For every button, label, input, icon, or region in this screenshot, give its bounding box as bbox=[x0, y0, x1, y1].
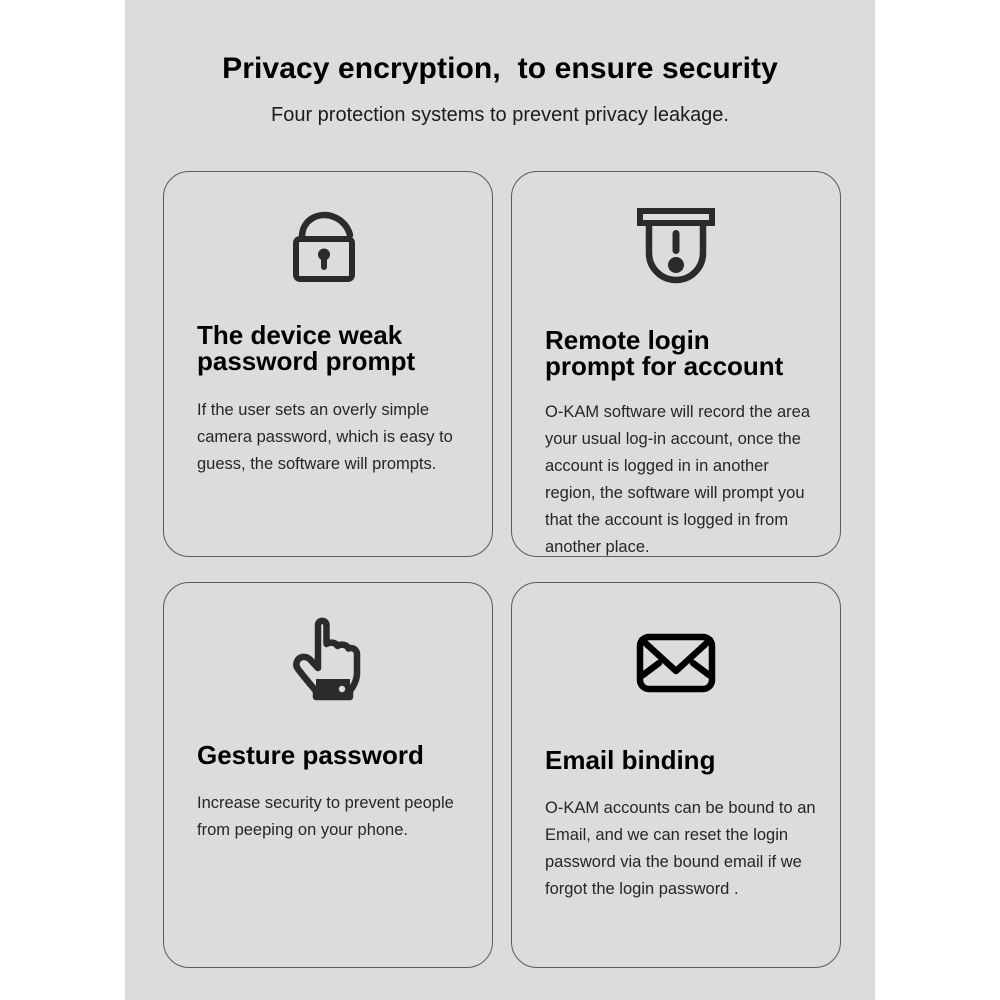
page-subtitle: Four protection systems to prevent priva… bbox=[125, 89, 875, 128]
card-body: If the user sets an overly simple camera… bbox=[164, 397, 492, 478]
card-title: Email binding bbox=[512, 747, 840, 773]
feature-card-grid: The device weak password prompt If the u… bbox=[163, 171, 838, 968]
envelope-icon bbox=[628, 583, 724, 711]
card-body: O-KAM accounts can be bound to an Email,… bbox=[512, 795, 840, 903]
feature-card-email-binding[interactable]: Email binding O-KAM accounts can be boun… bbox=[511, 582, 841, 968]
feature-card-weak-password[interactable]: The device weak password prompt If the u… bbox=[163, 171, 493, 557]
page-root: Privacy encryption, to ensure security F… bbox=[0, 0, 1000, 1000]
open-padlock-icon bbox=[280, 172, 376, 295]
card-title: The device weak password prompt bbox=[164, 322, 492, 374]
pointing-hand-icon bbox=[280, 583, 376, 707]
feature-card-remote-login[interactable]: Remote login prompt for account O-KAM so… bbox=[511, 171, 841, 557]
feature-card-gesture-password[interactable]: Gesture password Increase security to pr… bbox=[163, 582, 493, 968]
card-title: Gesture password bbox=[164, 742, 492, 768]
card-title: Remote login prompt for account bbox=[512, 327, 840, 379]
card-body: O-KAM software will record the area your… bbox=[512, 399, 840, 557]
card-body: Increase security to prevent people from… bbox=[164, 790, 492, 844]
content-panel: Privacy encryption, to ensure security F… bbox=[125, 0, 875, 1000]
page-header: Privacy encryption, to ensure security F… bbox=[125, 0, 875, 128]
page-title: Privacy encryption, to ensure security bbox=[125, 0, 875, 89]
dome-camera-alert-icon bbox=[628, 172, 724, 293]
